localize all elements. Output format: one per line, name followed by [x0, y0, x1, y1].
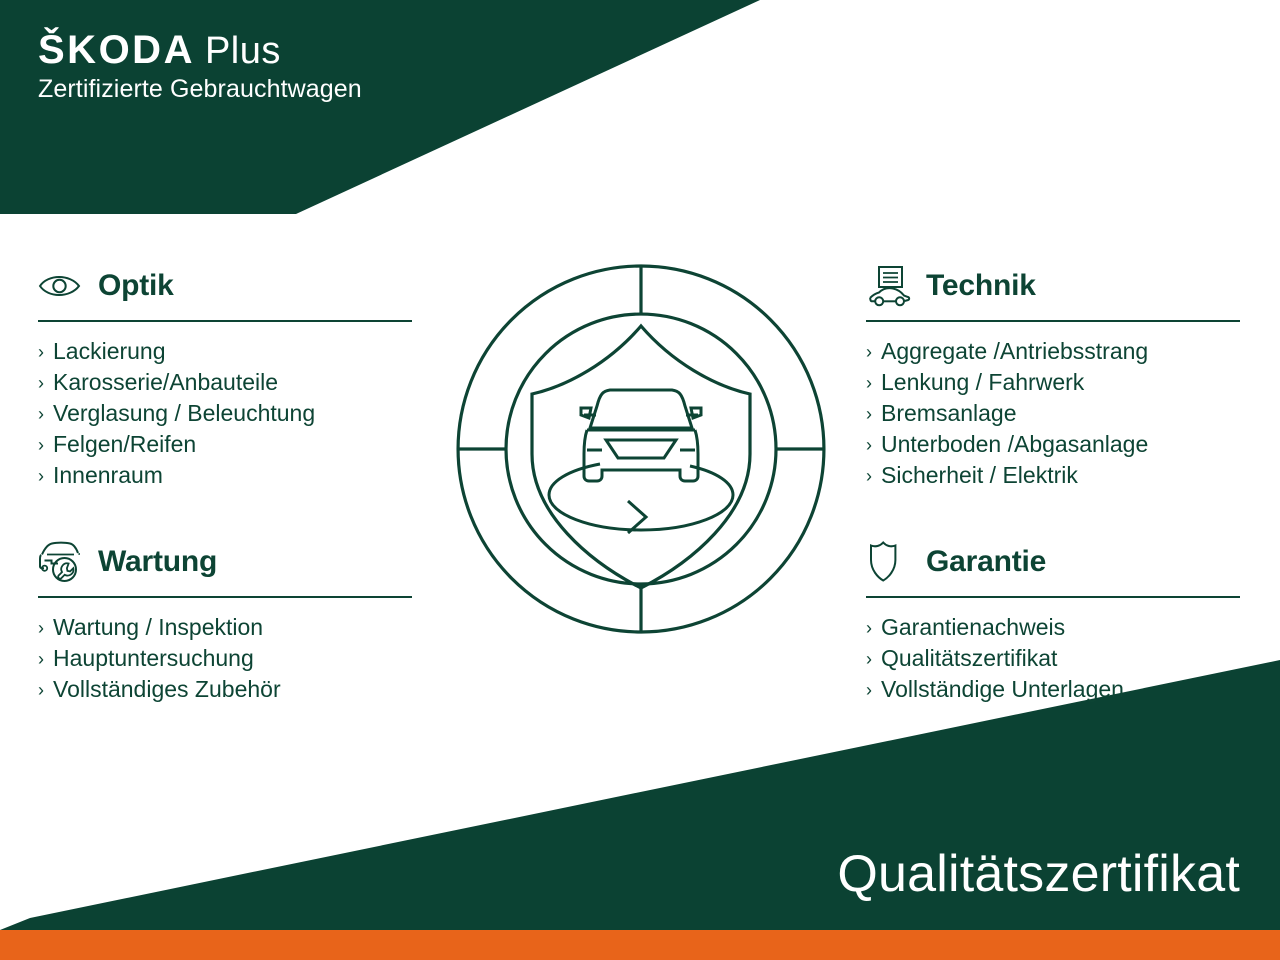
list-item: ›Garantienachweis: [866, 612, 1242, 643]
section-optik: Optik ›Lackierung ›Karosserie/Anbauteile…: [38, 262, 414, 491]
list-item: ›Wartung / Inspektion: [38, 612, 414, 643]
section-title: Optik: [98, 271, 174, 301]
list-item-label: Lenkung / Fahrwerk: [881, 367, 1084, 398]
list-item: ›Sicherheit / Elektrik: [866, 460, 1242, 491]
section-item-list: ›Garantienachweis ›Qualitätszertifikat ›…: [866, 598, 1242, 705]
eye-icon: [38, 264, 84, 308]
list-item: ›Lenkung / Fahrwerk: [866, 367, 1242, 398]
chevron-right-icon: ›: [866, 619, 872, 637]
list-item-label: Karosserie/Anbauteile: [53, 367, 278, 398]
chevron-right-icon: ›: [866, 343, 872, 361]
brand-product: Plus: [205, 32, 281, 70]
car-wrench-icon: [38, 540, 84, 584]
chevron-right-icon: ›: [38, 436, 44, 454]
chevron-right-icon: ›: [38, 681, 44, 699]
document-car-icon: [866, 264, 912, 308]
shield-car-orbit-emblem: [450, 258, 832, 640]
list-item-label: Hauptuntersuchung: [53, 643, 254, 674]
list-item-label: Bremsanlage: [881, 398, 1017, 429]
section-title: Wartung: [98, 547, 217, 577]
chevron-right-icon: ›: [38, 467, 44, 485]
section-title: Garantie: [926, 547, 1046, 577]
section-header: Garantie: [866, 538, 1242, 586]
section-header: Technik: [866, 262, 1242, 310]
chevron-right-icon: ›: [38, 374, 44, 392]
chevron-right-icon: ›: [866, 374, 872, 392]
list-item-label: Innenraum: [53, 460, 163, 491]
chevron-right-icon: ›: [38, 619, 44, 637]
brand-logo: ŠKODA Plus Zertifizierte Gebrauchtwagen: [38, 30, 362, 104]
brand-logo-wordmark: ŠKODA Plus: [38, 30, 362, 70]
list-item: ›Lackierung: [38, 336, 414, 367]
list-item: ›Vollständiges Zubehör: [38, 674, 414, 705]
chevron-right-icon: ›: [38, 405, 44, 423]
chevron-right-icon: ›: [866, 405, 872, 423]
list-item: ›Felgen/Reifen: [38, 429, 414, 460]
list-item-label: Qualitätszertifikat: [881, 643, 1057, 674]
list-item: ›Unterboden /Abgasanlage: [866, 429, 1242, 460]
list-item-label: Felgen/Reifen: [53, 429, 196, 460]
list-item-label: Vollständige Unterlagen: [881, 674, 1124, 705]
section-technik: Technik ›Aggregate /Antriebsstrang ›Lenk…: [866, 262, 1242, 491]
list-item: ›Innenraum: [38, 460, 414, 491]
footer-orange-bar: [0, 930, 1280, 960]
chevron-right-icon: ›: [38, 650, 44, 668]
chevron-right-icon: ›: [866, 436, 872, 454]
chevron-right-icon: ›: [38, 343, 44, 361]
brand-tagline: Zertifizierte Gebrauchtwagen: [38, 76, 362, 104]
section-item-list: ›Aggregate /Antriebsstrang ›Lenkung / Fa…: [866, 322, 1242, 491]
brand-name: ŠKODA: [38, 30, 195, 70]
section-garantie: Garantie ›Garantienachweis ›Qualitätszer…: [866, 538, 1242, 705]
list-item-label: Vollständiges Zubehör: [53, 674, 281, 705]
chevron-right-icon: ›: [866, 681, 872, 699]
list-item-label: Unterboden /Abgasanlage: [881, 429, 1148, 460]
shield-icon: [866, 540, 912, 584]
list-item: ›Qualitätszertifikat: [866, 643, 1242, 674]
list-item-label: Wartung / Inspektion: [53, 612, 263, 643]
list-item: ›Bremsanlage: [866, 398, 1242, 429]
list-item: ›Aggregate /Antriebsstrang: [866, 336, 1242, 367]
chevron-right-icon: ›: [866, 467, 872, 485]
list-item-label: Lackierung: [53, 336, 166, 367]
section-item-list: ›Wartung / Inspektion ›Hauptuntersuchung…: [38, 598, 414, 705]
page-title: Qualitätszertifikat: [837, 848, 1240, 900]
section-header: Wartung: [38, 538, 414, 586]
list-item: ›Hauptuntersuchung: [38, 643, 414, 674]
section-wartung: Wartung ›Wartung / Inspektion ›Hauptunte…: [38, 538, 414, 705]
certificate-page: ŠKODA Plus Zertifizierte Gebrauchtwagen …: [0, 0, 1280, 960]
list-item-label: Sicherheit / Elektrik: [881, 460, 1078, 491]
list-item: ›Karosserie/Anbauteile: [38, 367, 414, 398]
list-item: ›Verglasung / Beleuchtung: [38, 398, 414, 429]
list-item: ›Vollständige Unterlagen: [866, 674, 1242, 705]
list-item-label: Garantienachweis: [881, 612, 1065, 643]
chevron-right-icon: ›: [866, 650, 872, 668]
section-header: Optik: [38, 262, 414, 310]
section-title: Technik: [926, 271, 1036, 301]
list-item-label: Verglasung / Beleuchtung: [53, 398, 315, 429]
list-item-label: Aggregate /Antriebsstrang: [881, 336, 1148, 367]
section-item-list: ›Lackierung ›Karosserie/Anbauteile ›Verg…: [38, 322, 414, 491]
